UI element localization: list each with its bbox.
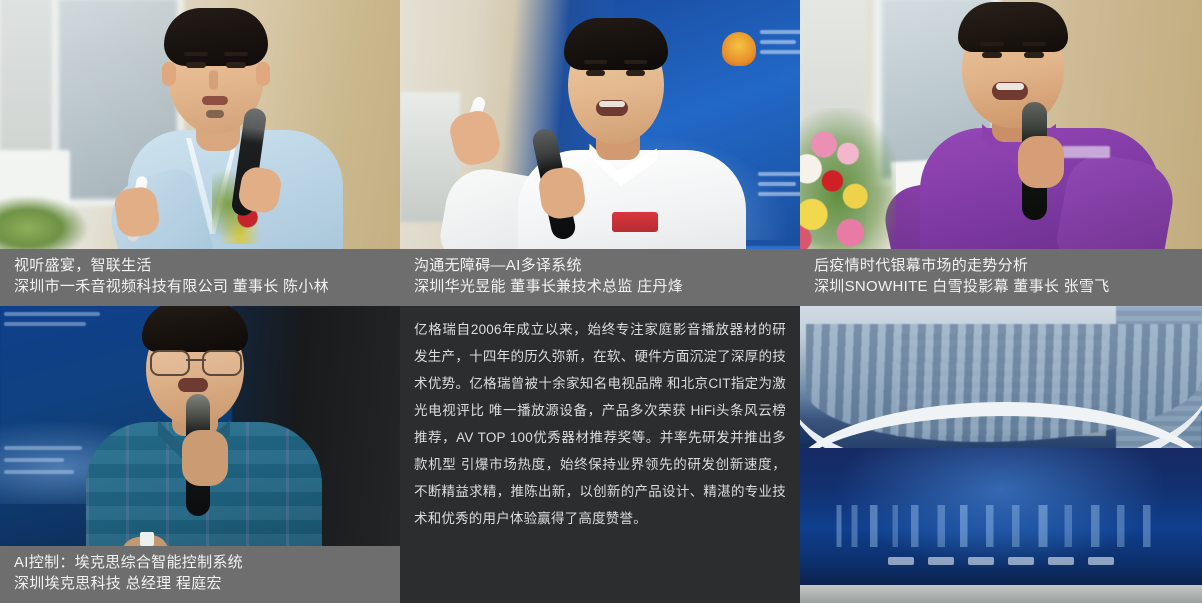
photo4-lens-right — [202, 350, 242, 376]
photo4-mouth — [178, 378, 208, 392]
photo3-eyebrow-right — [1022, 42, 1046, 46]
photo3-chest-logo — [1062, 146, 1110, 158]
photo4-glasses-icon — [150, 350, 242, 372]
speaker-card-4[interactable]: AI控制：埃克思综合智能控制系统 深圳埃克思科技 总经理 程庭宏 — [0, 306, 400, 603]
photo3-eyebrow-left — [980, 42, 1004, 46]
caption-1-affiliation: 深圳市一禾音视频科技有限公司 董事长 陈小林 — [14, 276, 386, 298]
exhibition-banner-photo: i AV 2020 国际视听嘉年华展 INTERNATIONAL A&V CAR… — [800, 306, 1202, 603]
photo1-ear-right — [256, 62, 270, 86]
photo1-left-hand — [113, 185, 161, 238]
speaker-card-3[interactable]: 后疫情时代银幕市场的走势分析 深圳SNOWHITE 白雪投影幕 董事长 张雪飞 — [800, 0, 1202, 306]
caption-2: 沟通无障碍—AI多译系统 深圳华光昱能 董事长兼技术总监 庄丹烽 — [400, 249, 800, 307]
banner-sponsor-logos — [888, 557, 1114, 565]
photo4-slide-textline — [4, 470, 74, 474]
photo2-screen-logo — [722, 32, 756, 66]
photo1-ear-left — [162, 62, 176, 86]
sponsor-logo — [968, 557, 994, 565]
photo1-eye-right — [226, 62, 246, 68]
photo2-eyebrow-left — [584, 60, 607, 64]
photo1-eyebrow-right — [224, 52, 248, 56]
exhibition-banner-card[interactable]: i AV 2020 国际视听嘉年华展 INTERNATIONAL A&V CAR… — [800, 306, 1202, 603]
sponsor-logo — [928, 557, 954, 565]
photo4-slide-textline — [4, 322, 86, 326]
sponsor-logo — [1088, 557, 1114, 565]
caption-2-affiliation: 深圳华光昱能 董事长兼技术总监 庄丹烽 — [414, 276, 786, 298]
photo3-eye-right — [1024, 52, 1044, 58]
caption-4-title: AI控制：埃克思综合智能控制系统 — [14, 552, 386, 574]
photo2-screen-textline — [760, 40, 796, 44]
photo1-mouth — [202, 96, 228, 105]
caption-3: 后疫情时代银幕市场的走势分析 深圳SNOWHITE 白雪投影幕 董事长 张雪飞 — [800, 249, 1202, 307]
speaker-card-1[interactable]: 视听盛宴，智联生活 深圳市一禾音视频科技有限公司 董事长 陈小林 — [0, 0, 400, 306]
photo4-lens-left — [150, 350, 190, 376]
sponsor-logo — [888, 557, 914, 565]
photo4-hair — [142, 306, 248, 352]
photo1-goatee — [206, 110, 224, 118]
banner-backdrop: i AV 2020 国际视听嘉年华展 INTERNATIONAL A&V CAR… — [800, 448, 1202, 587]
photo1-hair — [164, 8, 268, 66]
photo4-slide-textline — [4, 458, 64, 462]
article-paragraph: 亿格瑞自2006年成立以来，始终专注家庭影音播放器材的研发生产，十四年的历久弥新… — [414, 316, 786, 532]
photo2-eye-right — [626, 70, 645, 76]
caption-3-affiliation: 深圳SNOWHITE 白雪投影幕 董事长 张雪飞 — [814, 276, 1188, 298]
photo2-chest-logo — [612, 212, 658, 232]
photo2-screen-textline — [758, 182, 796, 186]
photo2-screen-textline — [758, 172, 800, 176]
caption-2-title: 沟通无障碍—AI多译系统 — [414, 255, 786, 277]
caption-4: AI控制：埃克思综合智能控制系统 深圳埃克思科技 总经理 程庭宏 — [0, 546, 400, 603]
photo4-presenter-clicker — [140, 532, 154, 546]
photo4-right-hand — [182, 430, 228, 486]
photo1-nose — [209, 70, 218, 90]
photo3-eye-left — [982, 52, 1002, 58]
caption-1-title: 视听盛宴，智联生活 — [14, 255, 386, 277]
photo1-eyebrow-left — [184, 52, 208, 56]
photo3-hair — [958, 2, 1068, 52]
photo2-screen-textline — [760, 30, 800, 34]
speakers-collage: 视听盛宴，智联生活 深圳市一禾音视频科技有限公司 董事长 陈小林 — [0, 0, 1202, 603]
article-text-block: 亿格瑞自2006年成立以来，始终专注家庭影音播放器材的研发生产，十四年的历久弥新… — [400, 306, 800, 603]
banner-ground — [800, 585, 1202, 603]
photo4-slide-textline — [4, 312, 100, 316]
banner-skyline-graphic — [814, 505, 1188, 547]
photo2-eye-left — [586, 70, 605, 76]
photo4-slide-textline — [4, 446, 82, 450]
collage-grid: 视听盛宴，智联生活 深圳市一禾音视频科技有限公司 董事长 陈小林 — [0, 0, 1202, 603]
caption-1: 视听盛宴，智联生活 深圳市一禾音视频科技有限公司 董事长 陈小林 — [0, 249, 400, 307]
speaker-card-2[interactable]: 沟通无障碍—AI多译系统 深圳华光昱能 董事长兼技术总监 庄丹烽 — [400, 0, 800, 306]
photo2-hair — [564, 18, 668, 70]
photo2-screen-textline — [760, 50, 800, 54]
caption-4-affiliation: 深圳埃克思科技 总经理 程庭宏 — [14, 573, 386, 595]
photo2-teeth — [599, 101, 625, 107]
article-cell: 亿格瑞自2006年成立以来，始终专注家庭影音播放器材的研发生产，十四年的历久弥新… — [400, 306, 800, 603]
photo2-screen-textline — [758, 192, 800, 196]
caption-3-title: 后疫情时代银幕市场的走势分析 — [814, 255, 1188, 277]
photo3-teeth — [996, 83, 1024, 90]
photo3-right-hand — [1018, 136, 1064, 188]
sponsor-logo — [1008, 557, 1034, 565]
photo2-eyebrow-right — [624, 60, 647, 64]
photo1-eye-left — [186, 62, 206, 68]
photo3-flower-bouquet — [800, 108, 896, 260]
sponsor-logo — [1048, 557, 1074, 565]
